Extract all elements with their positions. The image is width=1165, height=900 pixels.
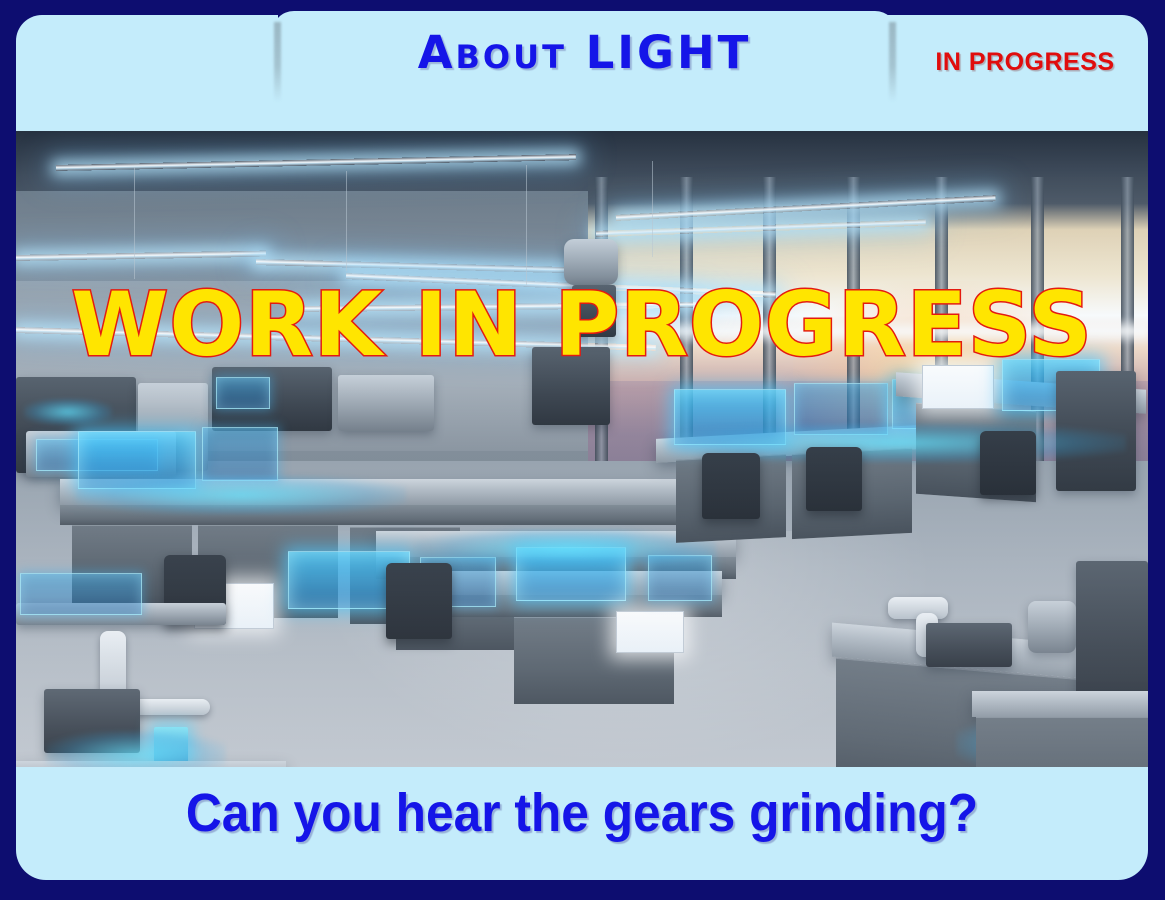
status-badge: IN PROGRESS — [902, 48, 1148, 77]
bench-glow — [76, 475, 406, 515]
lab-scene-illustration — [16, 131, 1148, 767]
work-in-progress-overlay: WORK IN PROGRESS — [16, 281, 1148, 369]
holo-screen — [20, 573, 142, 615]
office-chair — [386, 563, 452, 639]
header-left-panel — [16, 15, 278, 131]
instrument-body — [1028, 601, 1076, 653]
page-title: About LIGHT — [272, 26, 897, 79]
caption-text: Can you hear the gears grinding? — [61, 782, 1102, 844]
slide-root: About LIGHT IN PROGRESS — [0, 0, 1165, 900]
lab-bench-top — [972, 691, 1148, 717]
bench-glow — [46, 731, 226, 767]
office-chair — [806, 447, 862, 511]
equipment-glow — [24, 399, 112, 425]
holo-screen — [202, 427, 278, 481]
header-bar: About LIGHT IN PROGRESS — [0, 0, 1165, 131]
equipment-rack — [338, 375, 434, 431]
bench-glow — [416, 529, 716, 567]
instrument-body — [926, 623, 1012, 667]
holo-screen — [216, 377, 270, 409]
office-chair — [702, 453, 760, 519]
hanging-cable — [134, 167, 135, 279]
equipment-rack — [1076, 561, 1148, 711]
bench-cabinet — [976, 717, 1148, 767]
lab-photo: WORK IN PROGRESS — [16, 131, 1148, 767]
hanging-cable — [346, 171, 347, 271]
office-chair — [980, 431, 1036, 495]
monitor-screen — [616, 611, 684, 653]
hanging-cable — [526, 165, 527, 285]
hanging-cable — [652, 161, 653, 257]
